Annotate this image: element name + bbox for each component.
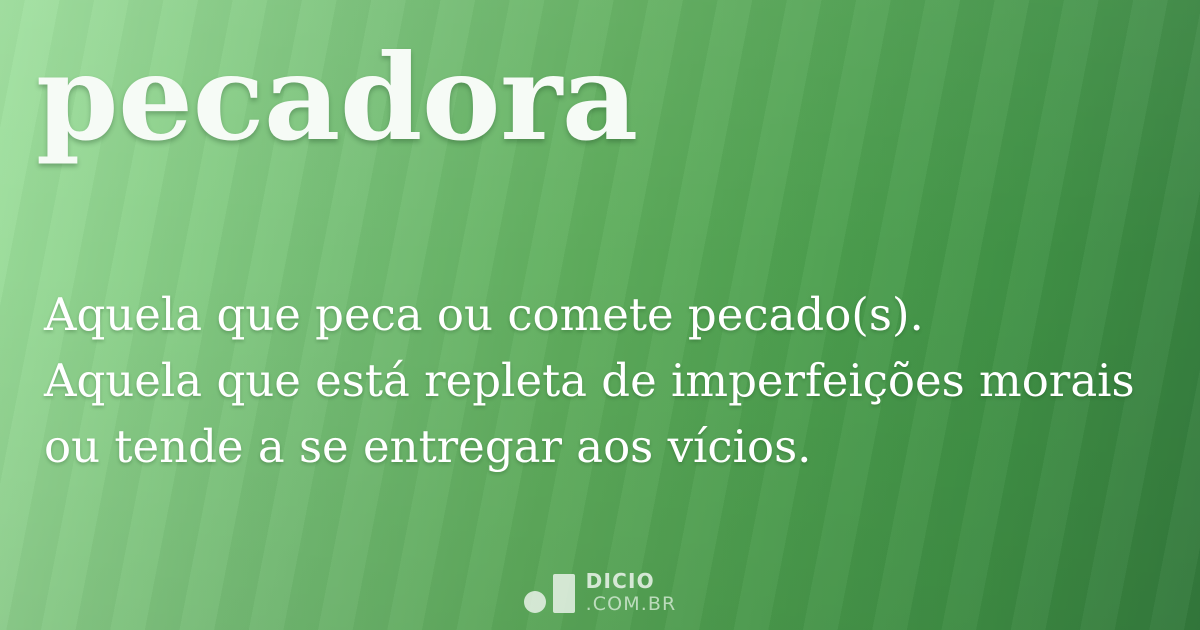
definition-line: Aquela que está repleta de imperfeições … [44, 348, 1154, 414]
definition-line: ou tende a se entregar aos vícios. [44, 414, 1154, 480]
logo-circle-icon [524, 591, 546, 613]
dicio-logo[interactable]: DICIO .COM.BR [0, 571, 1200, 614]
definition-card: pecadora Aquela que peca ou comete pecad… [0, 0, 1200, 630]
logo-wordmark: DICIO .COM.BR [586, 571, 677, 614]
definition-line: Aquela que peca ou comete pecado(s). [44, 282, 1154, 348]
headword-title: pecadora [36, 28, 638, 167]
logo-bar-icon [553, 574, 575, 613]
card-content: pecadora Aquela que peca ou comete pecad… [0, 0, 1200, 630]
logo-name: DICIO [586, 571, 677, 591]
logo-domain-suffix: .COM.BR [586, 595, 677, 614]
definition-text: Aquela que peca ou comete pecado(s). Aqu… [44, 282, 1154, 480]
logo-mark-icon [524, 573, 575, 613]
